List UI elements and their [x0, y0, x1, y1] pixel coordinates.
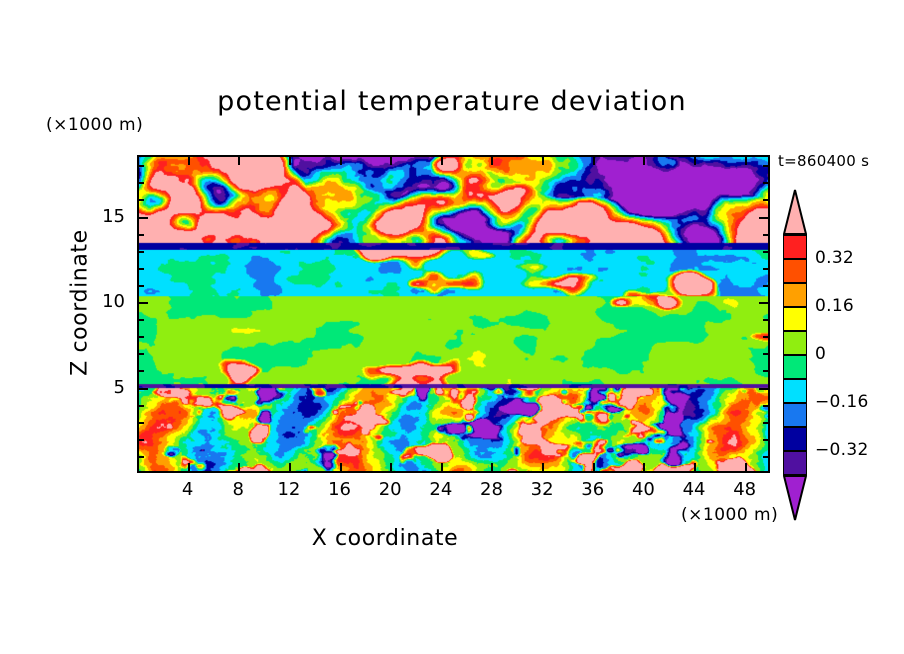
x-tick-label-24: 24: [421, 479, 461, 500]
colorbar-band-2: [783, 283, 807, 307]
y-tick: [763, 268, 769, 270]
x-tick: [340, 156, 342, 165]
y-tick: [138, 234, 144, 236]
y-tick: [763, 319, 769, 321]
y-tick: [138, 319, 144, 321]
y-tick: [138, 302, 148, 304]
x-tick: [542, 156, 544, 165]
y-tick: [138, 439, 144, 441]
y-tick: [138, 456, 144, 458]
y-tick: [763, 285, 769, 287]
y-tick: [138, 336, 144, 338]
x-tick: [441, 463, 443, 472]
y-tick-label-5: 5: [85, 377, 125, 398]
colorbar-band-4: [783, 331, 807, 355]
x-tick-label-44: 44: [674, 479, 714, 500]
x-tick: [643, 463, 645, 472]
y-tick: [763, 165, 769, 167]
colorbar-band-3: [783, 307, 807, 331]
x-tick: [593, 463, 595, 472]
x-tick-label-4: 4: [168, 479, 208, 500]
y-tick: [763, 439, 769, 441]
x-axis-unit-label: (×1000 m): [681, 505, 778, 525]
y-tick: [138, 182, 144, 184]
colorbar-label-2: 0: [815, 344, 826, 364]
colorbar-label-3: −0.16: [815, 392, 869, 412]
x-tick: [593, 156, 595, 165]
y-tick: [763, 234, 769, 236]
colorbar-label-0: 0.32: [815, 248, 854, 268]
x-tick: [694, 156, 696, 165]
colorbar-band-5: [783, 355, 807, 379]
y-tick: [759, 388, 769, 390]
y-tick: [763, 422, 769, 424]
y-tick: [138, 388, 148, 390]
x-tick: [188, 463, 190, 472]
contour-plot-area: [137, 155, 770, 473]
y-tick: [138, 370, 144, 372]
y-tick: [763, 182, 769, 184]
colorbar-band-9: [783, 451, 807, 475]
x-tick-label-12: 12: [269, 479, 309, 500]
y-tick: [763, 336, 769, 338]
colorbar-band-6: [783, 379, 807, 403]
colorbar-band-1: [783, 259, 807, 283]
x-tick-label-40: 40: [623, 479, 663, 500]
y-tick-label-10: 10: [85, 291, 125, 312]
x-tick: [694, 463, 696, 472]
x-tick: [289, 463, 291, 472]
y-tick: [763, 251, 769, 253]
page-title: potential temperature deviation: [0, 86, 904, 117]
y-tick: [138, 217, 148, 219]
y-tick: [138, 268, 144, 270]
y-tick: [138, 199, 144, 201]
x-tick-label-20: 20: [370, 479, 410, 500]
colorbar-over-arrow: [783, 189, 807, 235]
y-tick: [138, 422, 144, 424]
x-tick: [340, 463, 342, 472]
y-tick: [759, 217, 769, 219]
y-tick: [138, 353, 144, 355]
colorbar-band-0: [783, 235, 807, 259]
x-tick: [289, 156, 291, 165]
y-tick: [138, 285, 144, 287]
y-tick: [763, 370, 769, 372]
x-tick: [238, 156, 240, 165]
x-tick: [238, 463, 240, 472]
colorbar-under-arrow: [783, 475, 807, 521]
z-axis-unit-label: (×1000 m): [46, 115, 143, 135]
x-tick: [491, 463, 493, 472]
time-annotation: t=860400 s: [778, 152, 869, 170]
x-tick: [745, 463, 747, 472]
y-tick: [138, 251, 144, 253]
y-tick: [763, 456, 769, 458]
x-tick-label-8: 8: [218, 479, 258, 500]
x-tick: [441, 156, 443, 165]
x-tick-label-28: 28: [471, 479, 511, 500]
colorbar-label-4: −0.32: [815, 440, 869, 460]
x-tick-label-36: 36: [573, 479, 613, 500]
colorbar-band-8: [783, 427, 807, 451]
y-tick: [763, 405, 769, 407]
y-tick: [138, 405, 144, 407]
colorbar-band-7: [783, 403, 807, 427]
x-axis-title: X coordinate: [0, 526, 770, 551]
colorbar-label-1: 0.16: [815, 296, 854, 316]
x-tick: [643, 156, 645, 165]
x-tick-label-32: 32: [522, 479, 562, 500]
y-tick-label-15: 15: [85, 206, 125, 227]
colorbar: 0.320.160−0.16−0.32: [783, 235, 807, 475]
contour-field-canvas: [139, 157, 768, 471]
x-tick: [188, 156, 190, 165]
x-tick: [542, 463, 544, 472]
x-tick: [491, 156, 493, 165]
y-tick: [763, 199, 769, 201]
y-tick: [138, 165, 144, 167]
y-tick: [759, 302, 769, 304]
x-tick: [390, 156, 392, 165]
x-tick: [390, 463, 392, 472]
y-tick: [763, 353, 769, 355]
x-tick: [745, 156, 747, 165]
x-tick-label-16: 16: [320, 479, 360, 500]
x-tick-label-48: 48: [725, 479, 765, 500]
